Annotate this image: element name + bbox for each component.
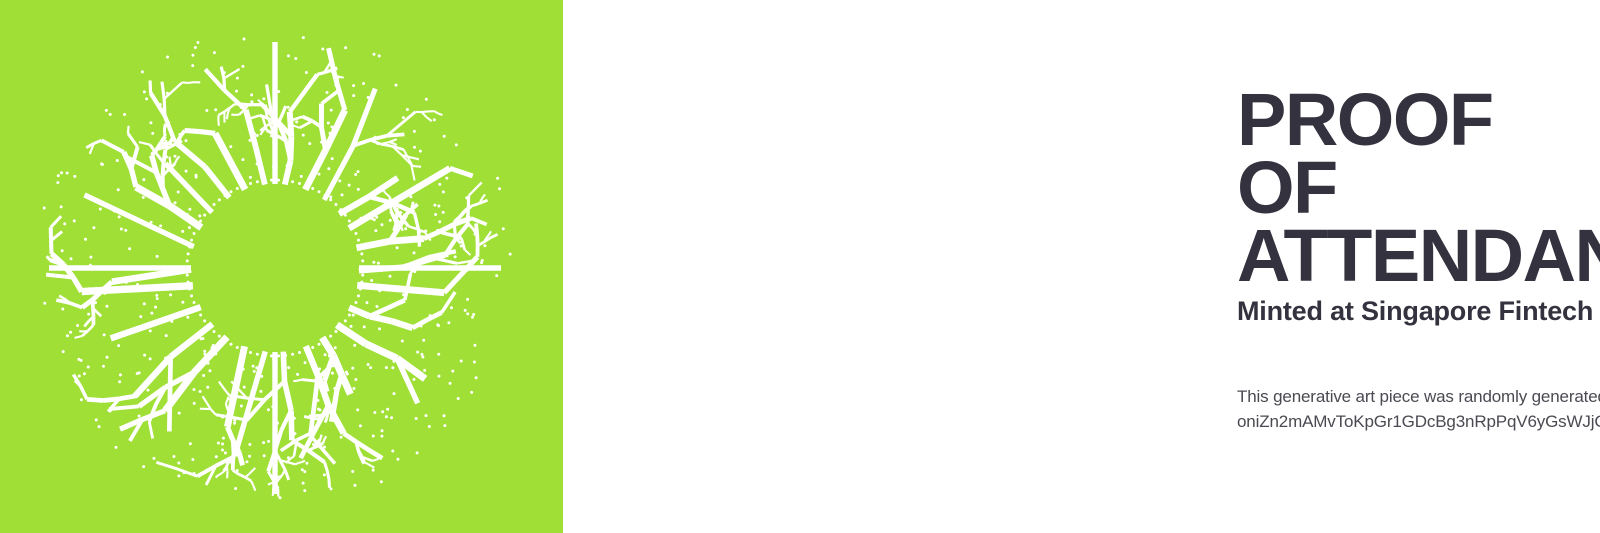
- headline-line-1: PROOF: [1237, 86, 1600, 154]
- description-line: This generative art piece was randomly g…: [1237, 385, 1600, 410]
- page-title: PROOF OF ATTENDANCE: [1237, 86, 1600, 290]
- proof-of-attendance-certificate: PROOF OF ATTENDANCE Minted at Singapore …: [0, 0, 1600, 533]
- transaction-hash: oniZn2mAMvToKpGr1GDcBg3nRpPqV6yGsWJjCf3P…: [1237, 410, 1600, 435]
- content-panel: PROOF OF ATTENDANCE Minted at Singapore …: [563, 0, 1600, 533]
- description: This generative art piece was randomly g…: [1237, 385, 1600, 434]
- subtitle: Minted at Singapore Fintech Festival 202…: [1237, 297, 1600, 327]
- radial-branching-art-icon: [0, 0, 563, 533]
- headline-line-2: OF: [1237, 154, 1600, 222]
- generative-art-panel: [0, 0, 563, 533]
- headline-line-3: ATTENDANCE: [1237, 222, 1600, 290]
